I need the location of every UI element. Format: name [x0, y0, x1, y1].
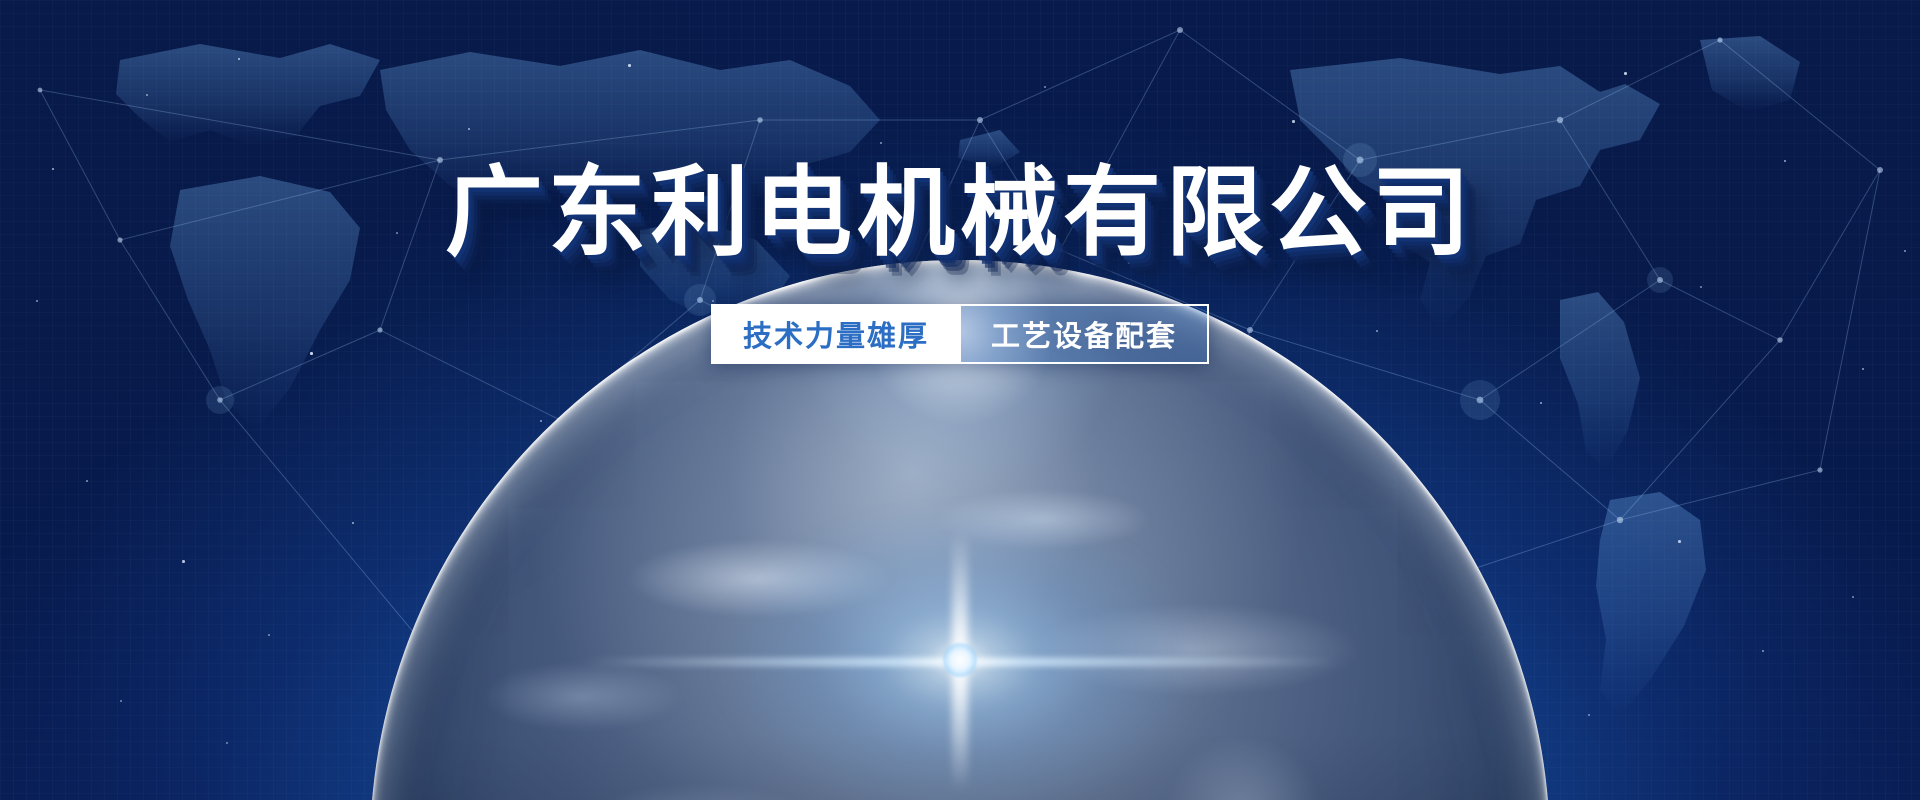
- company-title: 广东利电机械有限公司: [445, 160, 1475, 266]
- slogan-item-technical-strength: 技术力量雄厚: [713, 306, 959, 362]
- slogan-item-equipment-support: 工艺设备配套: [959, 306, 1207, 362]
- hero-banner: 广东利电机械有限公司 技术力量雄厚 工艺设备配套: [0, 0, 1920, 800]
- banner-content: 广东利电机械有限公司 技术力量雄厚 工艺设备配套: [0, 0, 1920, 800]
- slogan-group: 技术力量雄厚 工艺设备配套: [711, 304, 1209, 364]
